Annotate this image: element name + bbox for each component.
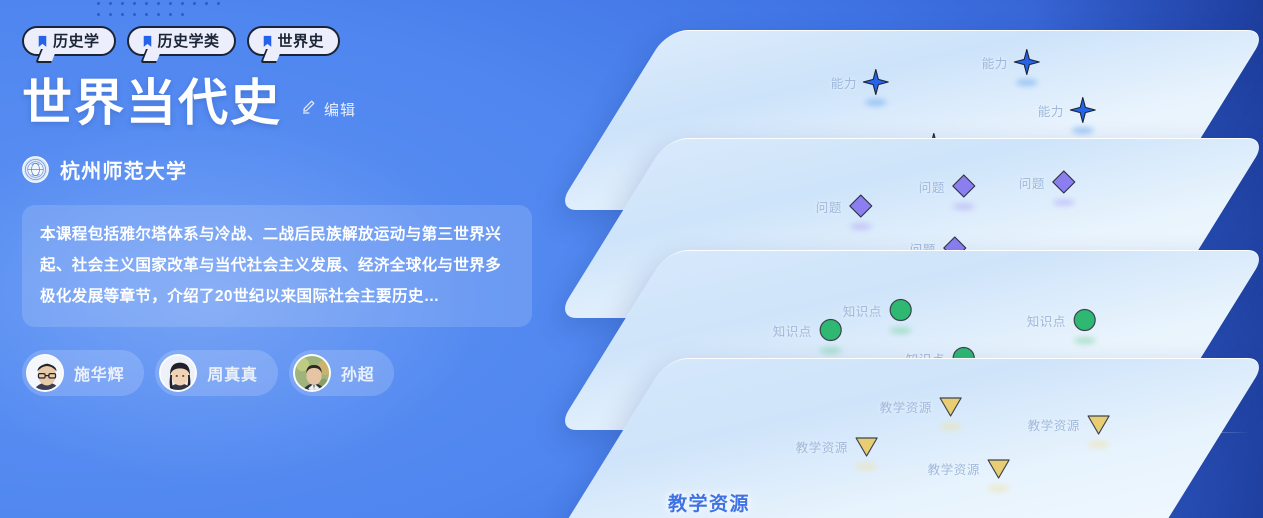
layer-node[interactable]: 知识点	[1027, 307, 1098, 333]
circle-marker-icon	[888, 297, 914, 323]
category-tag-label: 世界史	[278, 34, 325, 49]
star-marker-icon	[1070, 97, 1096, 123]
layer-node-label: 教学资源	[928, 459, 980, 478]
layer-node-label: 问题	[919, 177, 945, 196]
avatar	[293, 354, 331, 392]
layer-node[interactable]: 教学资源	[928, 455, 1012, 481]
triangle-marker-icon	[938, 393, 964, 419]
school-name: 杭州师范大学	[60, 155, 187, 184]
category-tag-label: 历史学类	[158, 34, 220, 49]
teacher-chip[interactable]: 施华辉	[22, 350, 144, 396]
layer-node[interactable]: 问题	[816, 193, 874, 219]
teacher-chip[interactable]: 周真真	[155, 350, 277, 396]
bookmark-icon	[143, 35, 152, 48]
avatar	[26, 354, 64, 392]
course-hero-banner: 历史学 历史学类 世界史 世界当代史	[0, 0, 1263, 518]
star-marker-icon	[1014, 49, 1040, 75]
knowledge-layer-stack: 能力体系 能力 能力 能力	[612, 0, 1263, 518]
teacher-chip[interactable]: 孙超	[289, 350, 395, 396]
layer-node[interactable]: 教学资源	[880, 393, 964, 419]
course-info-panel: 历史学 历史学类 世界史 世界当代史	[22, 0, 642, 518]
teacher-list: 施华辉 周真真 孙超	[22, 350, 642, 396]
layer-node[interactable]: 问题	[1019, 169, 1077, 195]
page-title: 世界当代史	[22, 78, 282, 128]
category-tag-label: 历史学	[53, 34, 100, 49]
layer-node[interactable]: 教学资源	[796, 433, 880, 459]
diamond-marker-icon	[951, 173, 977, 199]
category-tag-0[interactable]: 历史学	[22, 26, 116, 56]
university-emblem-icon	[22, 156, 49, 183]
diamond-marker-icon	[848, 193, 874, 219]
title-row: 世界当代史 编辑	[22, 78, 642, 128]
pencil-icon	[300, 98, 317, 120]
layer-label: 教学资源	[668, 489, 750, 516]
triangle-marker-icon	[986, 455, 1012, 481]
category-tag-2[interactable]: 世界史	[247, 26, 341, 56]
triangle-marker-icon	[854, 433, 880, 459]
layer-node[interactable]: 知识点	[843, 297, 914, 323]
category-tag-1[interactable]: 历史学类	[127, 26, 236, 56]
layer-node-label: 教学资源	[1028, 415, 1080, 434]
circle-marker-icon	[1072, 307, 1098, 333]
layer-node[interactable]: 能力	[1038, 97, 1096, 123]
teacher-name: 周真真	[207, 361, 257, 385]
layer-node-label: 问题	[1019, 173, 1045, 192]
bookmark-icon	[38, 35, 47, 48]
layer-node-label: 知识点	[1027, 311, 1066, 330]
layer-node[interactable]: 知识点	[773, 317, 844, 343]
edit-label: 编辑	[324, 99, 356, 120]
layer-node-label: 能力	[831, 73, 857, 92]
layer-node-label: 知识点	[843, 301, 882, 320]
layer-node-label: 知识点	[773, 321, 812, 340]
teacher-name: 施华辉	[74, 361, 124, 385]
layer-node-label: 问题	[816, 197, 842, 216]
course-description-text: 本课程包括雅尔塔体系与冷战、二战后民族解放运动与第三世界兴起、社会主义国家改革与…	[40, 219, 514, 312]
circle-marker-icon	[818, 317, 844, 343]
layer-node-label: 教学资源	[880, 397, 932, 416]
category-tag-list: 历史学 历史学类 世界史	[22, 26, 642, 56]
avatar	[159, 354, 197, 392]
triangle-marker-icon	[1086, 411, 1112, 437]
layer-node-label: 教学资源	[796, 437, 848, 456]
edit-button[interactable]: 编辑	[300, 98, 356, 120]
layer-4[interactable]: 教学资源 教学资源 教学资源 教学资源	[612, 358, 1212, 518]
layer-node[interactable]: 能力	[831, 69, 889, 95]
layer-node[interactable]: 教学资源	[1028, 411, 1112, 437]
school-row: 杭州师范大学	[22, 155, 642, 184]
course-description-card: 本课程包括雅尔塔体系与冷战、二战后民族解放运动与第三世界兴起、社会主义国家改革与…	[22, 205, 532, 327]
layer-node-label: 能力	[982, 53, 1008, 72]
layer-node[interactable]: 能力	[982, 49, 1040, 75]
layer-node[interactable]: 问题	[919, 173, 977, 199]
layer-plane	[556, 358, 1263, 518]
diamond-marker-icon	[1051, 169, 1077, 195]
teacher-name: 孙超	[341, 361, 375, 385]
layer-node-label: 能力	[1038, 101, 1064, 120]
star-marker-icon	[863, 69, 889, 95]
bookmark-icon	[263, 35, 272, 48]
